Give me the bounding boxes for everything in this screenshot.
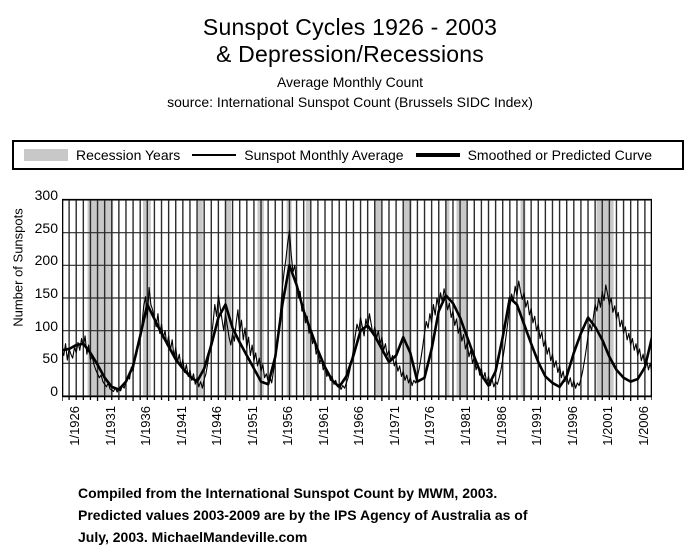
chart-subtitle: Average Monthly Count	[0, 72, 700, 92]
legend-label-smoothed: Smoothed or Predicted Curve	[468, 147, 652, 163]
chart-plot-area: Number of Sunspots 050100150200250300 1/…	[0, 190, 700, 410]
x-tick-label: 1/1946	[209, 406, 224, 446]
y-tick-label: 0	[24, 383, 58, 399]
x-axis-ticks: 1/19261/19311/19361/19411/19461/19511/19…	[62, 404, 652, 474]
x-tick-label: 1/1926	[67, 406, 82, 446]
header-block: Sunspot Cycles 1926 - 2003 & Depression/…	[0, 0, 700, 112]
legend-item-recession: Recession Years	[24, 147, 184, 163]
y-tick-label: 200	[24, 252, 58, 268]
thin-line-swatch-icon	[192, 154, 236, 156]
x-tick-label: 1/1936	[138, 406, 153, 446]
x-tick-label: 1/1931	[103, 406, 118, 446]
x-tick-label: 1/1951	[245, 406, 260, 446]
page-title-line1: Sunspot Cycles 1926 - 2003	[0, 14, 700, 41]
y-axis-ticks: 050100150200250300	[22, 190, 58, 396]
x-tick-label: 1/1996	[565, 406, 580, 446]
footer-line-2: Predicted values 2003-2009 are by the IP…	[0, 504, 700, 526]
footer-line-3: July, 2003. MichaelMandeville.com	[0, 526, 700, 548]
x-tick-label: 1/1956	[280, 406, 295, 446]
legend-label-monthly: Sunspot Monthly Average	[244, 147, 403, 163]
y-tick-label: 250	[24, 220, 58, 236]
x-tick-label: 1/1976	[422, 406, 437, 446]
x-tick-label: 1/1941	[174, 406, 189, 446]
sunspot-chart-svg	[62, 195, 652, 401]
legend-item-smoothed: Smoothed or Predicted Curve	[408, 147, 656, 163]
x-tick-label: 1/1991	[529, 406, 544, 446]
x-tick-label: 1/1986	[494, 406, 509, 446]
x-tick-label: 1/2001	[600, 406, 615, 446]
chart-legend: Recession Years Sunspot Monthly Average …	[12, 140, 684, 170]
legend-label-recession: Recession Years	[76, 147, 180, 163]
footer-block: Compiled from the International Sunspot …	[0, 482, 700, 548]
y-tick-label: 150	[24, 285, 58, 301]
x-tick-label: 1/1971	[387, 406, 402, 446]
legend-item-monthly: Sunspot Monthly Average	[184, 147, 407, 163]
page-title-line2: & Depression/Recessions	[0, 41, 700, 68]
footer-line-1: Compiled from the International Sunspot …	[0, 482, 700, 504]
recession-swatch-icon	[24, 149, 68, 161]
x-tick-label: 1/2006	[636, 406, 651, 446]
y-tick-label: 50	[24, 350, 58, 366]
y-tick-label: 300	[24, 187, 58, 203]
x-tick-label: 1/1981	[458, 406, 473, 446]
y-tick-label: 100	[24, 318, 58, 334]
thick-line-swatch-icon	[416, 153, 460, 157]
chart-source: source: International Sunspot Count (Bru…	[0, 92, 700, 112]
x-tick-label: 1/1961	[316, 406, 331, 446]
x-tick-label: 1/1966	[351, 406, 366, 446]
